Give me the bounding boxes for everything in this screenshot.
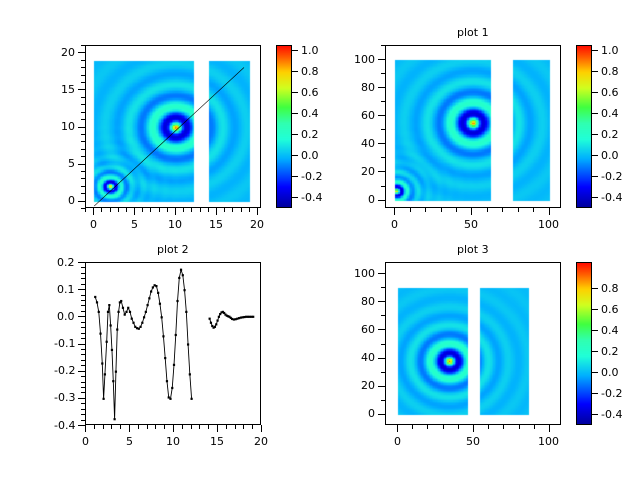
y-major-tick <box>378 358 385 359</box>
heatmap-image-bottom-right <box>386 263 561 425</box>
y-major-tick <box>378 386 385 387</box>
y-tick-label: 100 <box>354 268 375 279</box>
colorbar-tick <box>592 372 598 373</box>
x-major-tick <box>397 425 398 432</box>
colorbar-tick-label: 0.8 <box>601 283 619 294</box>
x-tick-label: 100 <box>538 436 559 447</box>
y-major-tick <box>378 273 385 274</box>
x-minor-tick <box>519 425 520 429</box>
x-minor-tick <box>503 425 504 429</box>
y-minor-tick <box>381 344 385 345</box>
colorbar-tick <box>592 288 598 289</box>
y-tick-label: 20 <box>361 380 375 391</box>
x-major-tick <box>473 425 474 432</box>
colorbar-tick-label: 0.6 <box>601 304 619 315</box>
y-major-tick <box>378 329 385 330</box>
plot-title-bottom-right: plot 3 <box>457 244 489 255</box>
colorbar-tick-label: -0.4 <box>601 409 622 420</box>
y-tick-label: 0 <box>368 408 375 419</box>
y-tick-label: 60 <box>361 324 375 335</box>
x-tick-label: 0 <box>394 436 401 447</box>
colorbar-gradient <box>577 263 591 424</box>
y-minor-tick <box>381 372 385 373</box>
colorbar-tick <box>592 309 598 310</box>
colorbar-tick <box>592 351 598 352</box>
y-major-tick <box>378 301 385 302</box>
colorbar-tick <box>592 414 598 415</box>
y-tick-label: 40 <box>361 352 375 363</box>
y-tick-label: 80 <box>361 296 375 307</box>
colorbar-tick-label: 0.0 <box>601 367 619 378</box>
plot-panel-bottom-right: plot 3050100020406080100-0.4-0.20.00.20.… <box>0 0 640 480</box>
colorbar-tick-label: 0.2 <box>601 346 619 357</box>
axes-frame-bottom-right <box>385 262 561 425</box>
y-major-tick <box>378 414 385 415</box>
x-minor-tick <box>412 425 413 429</box>
colorbar-tick-label: 0.4 <box>601 325 619 336</box>
x-minor-tick <box>534 425 535 429</box>
y-minor-tick <box>381 287 385 288</box>
x-minor-tick <box>427 425 428 429</box>
colorbar-bottom-right <box>576 262 592 425</box>
figure-canvas: 0510152005101520-0.4-0.20.00.20.40.60.81… <box>0 0 640 480</box>
x-minor-tick <box>488 425 489 429</box>
colorbar-tick <box>592 330 598 331</box>
x-minor-tick <box>458 425 459 429</box>
x-minor-tick <box>443 425 444 429</box>
colorbar-tick-label: -0.2 <box>601 388 622 399</box>
colorbar-tick <box>592 393 598 394</box>
y-minor-tick <box>381 315 385 316</box>
y-minor-tick <box>381 400 385 401</box>
x-tick-label: 50 <box>466 436 480 447</box>
x-major-tick <box>549 425 550 432</box>
